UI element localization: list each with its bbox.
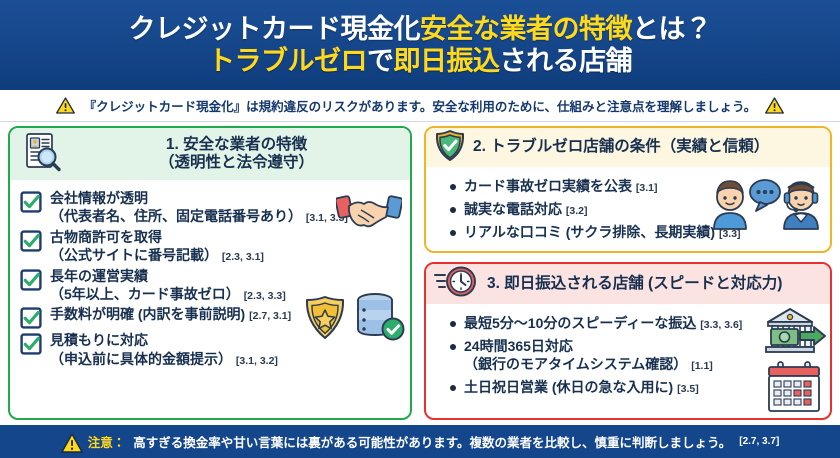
- panel1-header: 1. 安全な業者の特徴 （透明性と法令遵守）: [10, 128, 410, 180]
- title-part-4: される店舗: [500, 46, 633, 76]
- list-item-main: 誠実な電話対応: [464, 201, 562, 217]
- list-item-sub: （代表者名、住所、固定電話番号あり）: [50, 208, 302, 224]
- list-item-text: リアルな口コミ (サクラ排除、長期実績) [3.3]: [464, 223, 741, 242]
- title-part-2: とは？: [632, 14, 712, 44]
- reference-tag: [2.7, 3.1]: [249, 310, 291, 322]
- title-part-3: で: [367, 46, 394, 76]
- list-item-sub: （公式サイトに番号記載）: [50, 247, 218, 263]
- speed-clock-icon: [434, 265, 480, 303]
- list-item-sub: （銀行のモアタイムシステム確認）: [464, 356, 687, 372]
- list-item-main: リアルな口コミ (サクラ排除、長期実績): [464, 224, 715, 240]
- handshake-icon: [336, 188, 402, 235]
- reference-tag: [3.2]: [566, 205, 588, 217]
- panel1-title-line-1: 1. 安全な業者の特徴: [71, 136, 402, 154]
- list-item-main: 最短5分〜10分のスピーディーな振込: [464, 315, 696, 331]
- panel3-title: 3. 即日振込される店舗 (スピードと対応力): [487, 275, 782, 293]
- list-item-text: 長年の運営実績 （5年以上、カード事故ゼロ） [2.3, 3.3]: [50, 267, 286, 304]
- list-item-main: 会社情報が透明: [50, 190, 148, 206]
- page-title-line-2: トラブルゼロで即日振込される店舗: [208, 46, 632, 78]
- list-item-text: 見積もりに対応 （申込前に具体的金額提示） [3.1, 3.2]: [50, 331, 278, 368]
- list-item-main: カード事故ゼロ実績を公表: [464, 178, 632, 194]
- warning-triangle-icon: [61, 433, 80, 450]
- list-item-main: 土日祝日営業 (休日の急な入用に): [464, 379, 673, 395]
- notice-text: 『クレジットカード現金化』は規約違反のリスクがあります。安全な利用のために、仕組…: [84, 96, 757, 115]
- list-item-main: 古物商許可を取得: [50, 229, 162, 245]
- footer-warning-bar: 注意： 高すぎる換金率や甘い言葉には裏がある可能性があります。複数の業者を比較し…: [0, 425, 840, 458]
- panel2-header: 2. トラブルゼロ店舗の条件（実績と信頼）: [426, 128, 830, 167]
- panel-safe-operator-features: 1. 安全な業者の特徴 （透明性と法令遵守）: [8, 126, 412, 420]
- bullet-dot-icon: [450, 184, 456, 190]
- warning-triangle-icon: [765, 97, 784, 114]
- footer-label: 注意：: [88, 432, 126, 451]
- reference-tag: [2.3, 3.1]: [222, 251, 264, 263]
- title-highlight-2: トラブルゼロ: [208, 46, 367, 76]
- panel3-header: 3. 即日振込される店舗 (スピードと対応力): [426, 264, 830, 304]
- bank-transfer-icon: [764, 306, 826, 365]
- reference-tag: [3.1]: [636, 182, 658, 194]
- list-item-text: 手数料が明確 (内訳を事前説明) [2.7, 3.1]: [50, 305, 291, 324]
- list-item-sub: （申込前に具体的金額提示）: [50, 351, 232, 367]
- reference-tag: [2.3, 3.3]: [244, 290, 286, 302]
- bullet-dot-icon: [450, 207, 456, 213]
- footer-text: 高すぎる換金率や甘い言葉には裏がある可能性があります。複数の業者を比較し、慎重に…: [133, 432, 731, 451]
- panel2-body: カード事故ゼロ実績を公表 [3.1] 誠実な電話対応 [3.2] リアルな口コミ…: [426, 167, 830, 248]
- list-item-text: 最短5分〜10分のスピーディーな振込 [3.3, 3.6]: [464, 314, 742, 333]
- page-header: クレジットカード現金化安全な業者の特徴とは？ トラブルゼロで即日振込される店舗: [0, 0, 840, 90]
- title-highlight-3: 即日振込: [394, 46, 500, 76]
- page-title-line-1: クレジットカード現金化安全な業者の特徴とは？: [129, 14, 712, 46]
- title-highlight-1: 安全な業者の特徴: [420, 14, 632, 44]
- panel2-title: 2. トラブルゼロ店舗の条件（実績と信頼）: [473, 138, 769, 156]
- list-item-text: 土日祝日営業 (休日の急な入用に) [3.5]: [464, 378, 699, 397]
- shield-check-icon: [434, 129, 466, 167]
- list-item-sub: （5年以上、カード事故ゼロ）: [50, 286, 240, 302]
- checkbox-checked-icon: [20, 333, 42, 355]
- id-document-magnifier-icon: [20, 130, 64, 179]
- database-verified-icon: [354, 292, 406, 347]
- list-item-main: 見積もりに対応: [50, 332, 148, 348]
- list-item-text: 24時間365日対応 （銀行のモアタイムシステム確認） [1.1]: [464, 337, 713, 374]
- panel1-title-line-2: （透明性と法令遵守）: [71, 154, 402, 172]
- panel-trouble-free-conditions: 2. トラブルゼロ店舗の条件（実績と信頼）: [424, 126, 832, 253]
- checkbox-checked-icon: [20, 307, 42, 329]
- checkbox-checked-icon: [20, 191, 42, 213]
- list-item-text: 会社情報が透明 （代表者名、住所、固定電話番号あり） [3.1, 3.3]: [50, 189, 348, 226]
- customer-and-operator-icon: [706, 171, 824, 238]
- checkbox-checked-icon: [20, 269, 42, 291]
- list-item-text: 古物商許可を取得 （公式サイトに番号記載） [2.3, 3.1]: [50, 228, 264, 265]
- bullet-dot-icon: [450, 385, 456, 391]
- title-part-1: クレジットカード現金化: [129, 14, 421, 44]
- panel1-title: 1. 安全な業者の特徴 （透明性と法令遵守）: [71, 136, 402, 173]
- panel1-body: 会社情報が透明 （代表者名、住所、固定電話番号あり） [3.1, 3.3] 古物…: [10, 180, 410, 374]
- reference-tag: [3.3, 3.6]: [700, 319, 742, 331]
- list-item-main: 24時間365日対応: [464, 338, 573, 354]
- bullet-dot-icon: [450, 344, 456, 350]
- notice-bar: 『クレジットカード現金化』は規約違反のリスクがあります。安全な利用のために、仕組…: [0, 90, 840, 122]
- reference-tag: [1.1]: [691, 360, 713, 372]
- bullet-dot-icon: [450, 321, 456, 327]
- panel-same-day-transfer: 3. 即日振込される店舗 (スピードと対応力): [424, 262, 832, 420]
- checkbox-checked-icon: [20, 230, 42, 252]
- reference-tag: [3.1, 3.2]: [236, 355, 278, 367]
- footer-reference-tag: [2.7, 3.7]: [739, 436, 779, 447]
- panel3-body: 最短5分〜10分のスピーディーな振込 [3.3, 3.6] 24時間365日対応…: [426, 304, 830, 403]
- bullet-dot-icon: [450, 230, 456, 236]
- calendar-icon: [766, 360, 822, 419]
- reference-tag: [3.5]: [677, 383, 699, 395]
- police-badge-icon: [302, 294, 348, 347]
- infographic-page: クレジットカード現金化安全な業者の特徴とは？ トラブルゼロで即日振込される店舗 …: [0, 0, 840, 458]
- list-item-text: カード事故ゼロ実績を公表 [3.1]: [464, 177, 657, 196]
- list-item-text: 誠実な電話対応 [3.2]: [464, 200, 587, 219]
- warning-triangle-icon: [56, 97, 75, 114]
- list-item-main: 長年の運営実績: [50, 268, 148, 284]
- list-item-main: 手数料が明確 (内訳を事前説明): [50, 306, 245, 322]
